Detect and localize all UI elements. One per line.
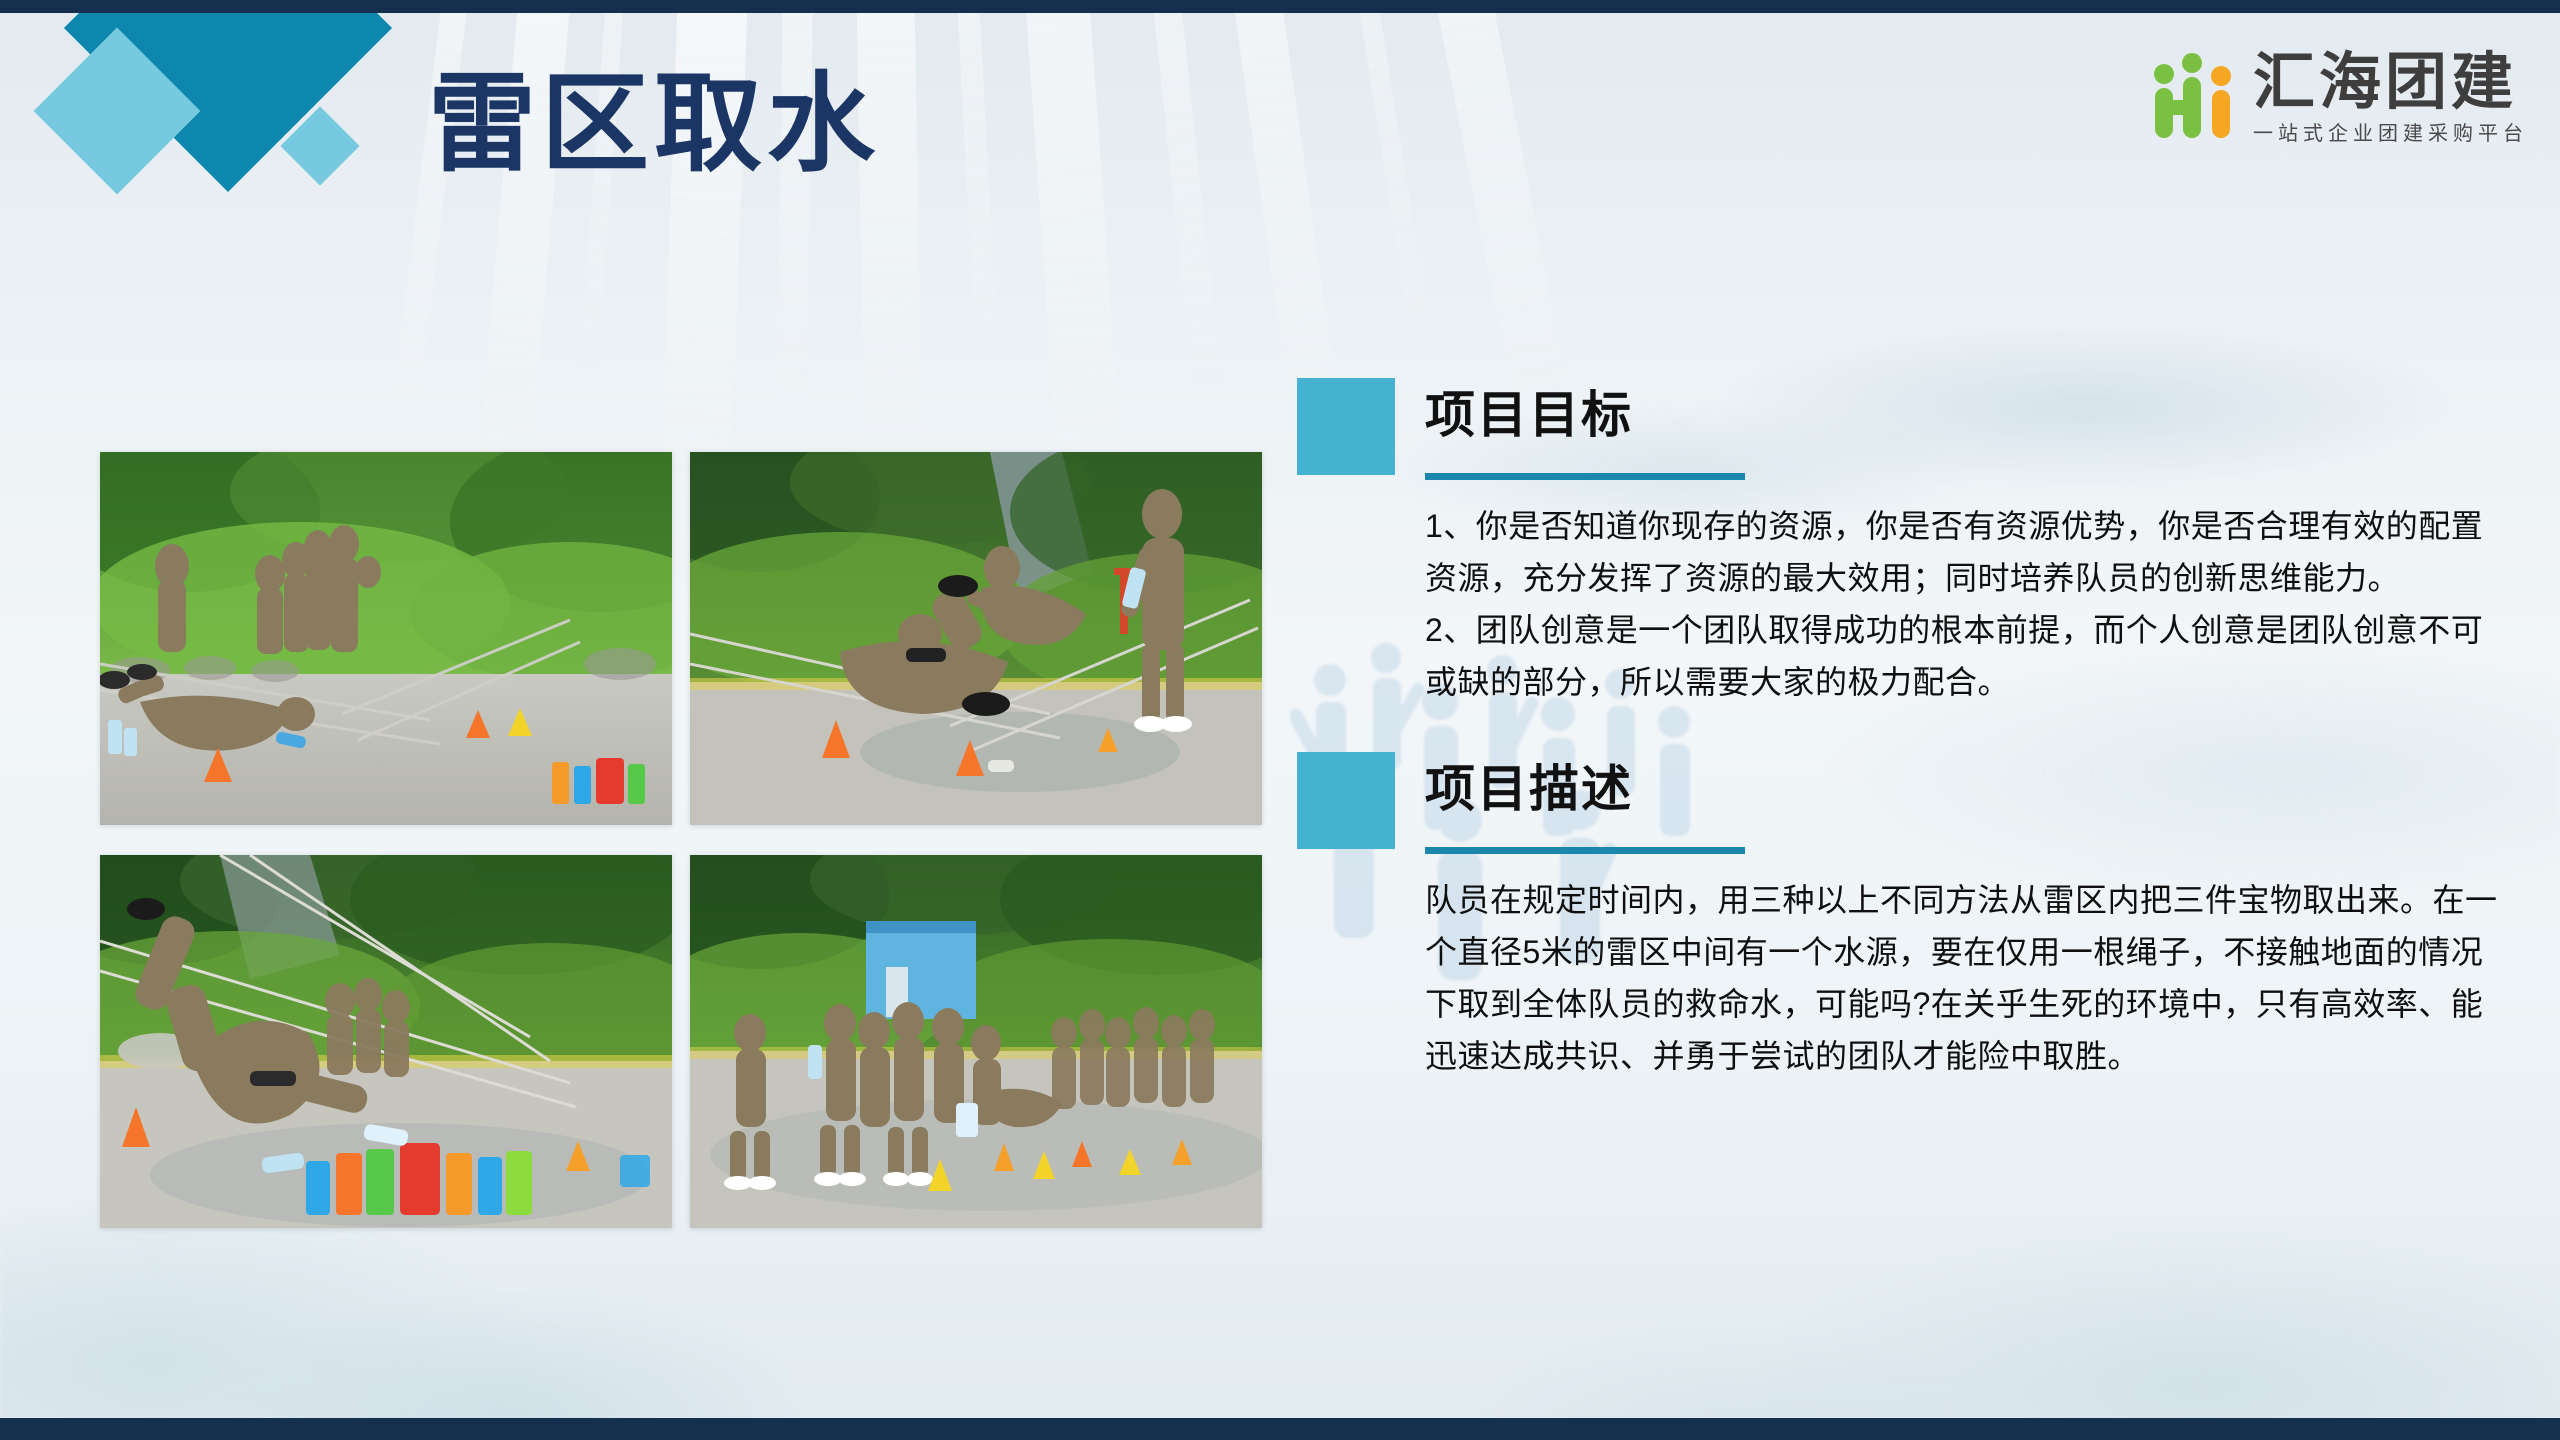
section-header: 项目描述 [1297, 752, 2507, 864]
slide-canvas: 雷区取水 汇海团建 一站式企业团建采购平台 [0, 0, 2560, 1440]
section-title: 项目目标 [1425, 384, 1633, 447]
paragraph: 队员在规定时间内，用三种以上不同方法从雷区内把三件宝物取出来。在一个直径5米的雷… [1425, 874, 2507, 1082]
section-body: 1、你是否知道你现存的资源，你是否有资源优势，你是否合理有效的配置资源，充分发挥… [1297, 500, 2507, 708]
section-objectives: 项目目标 1、你是否知道你现存的资源，你是否有资源优势，你是否合理有效的配置资源… [1297, 378, 2507, 708]
brand-logo: 汇海团建 一站式企业团建采购平台 [2151, 52, 2528, 144]
section-underline [1425, 847, 1745, 854]
logo-tagline: 一站式企业团建采购平台 [2253, 124, 2528, 144]
photo-1[interactable] [100, 452, 672, 825]
section-description: 项目描述 队员在规定时间内，用三种以上不同方法从雷区内把三件宝物取出来。在一个直… [1297, 752, 2507, 1082]
logo-name: 汇海团建 [2253, 52, 2528, 114]
section-body: 队员在规定时间内，用三种以上不同方法从雷区内把三件宝物取出来。在一个直径5米的雷… [1297, 874, 2507, 1082]
section-header: 项目目标 [1297, 378, 2507, 490]
section-underline [1425, 473, 1745, 480]
paragraph: 1、你是否知道你现存的资源，你是否有资源优势，你是否合理有效的配置资源，充分发挥… [1425, 500, 2507, 604]
content-column: 项目目标 1、你是否知道你现存的资源，你是否有资源优势，你是否合理有效的配置资源… [1297, 378, 2507, 1082]
bottom-navy-bar [0, 1418, 2560, 1440]
hi-logo-icon [2151, 52, 2239, 144]
photo-4[interactable] [690, 855, 1262, 1228]
top-navy-bar [0, 0, 2560, 13]
photo-3[interactable] [100, 855, 672, 1228]
paragraph: 2、团队创意是一个团队取得成功的根本前提，而个人创意是团队创意不可或缺的部分，所… [1425, 604, 2507, 708]
page-title: 雷区取水 [428, 58, 880, 190]
photo-grid [100, 452, 1256, 1252]
photo-2[interactable] [690, 452, 1262, 825]
section-title: 项目描述 [1425, 758, 1633, 821]
section-accent-block [1297, 752, 1395, 849]
diamond-decoration [0, 0, 420, 260]
section-accent-block [1297, 378, 1395, 475]
